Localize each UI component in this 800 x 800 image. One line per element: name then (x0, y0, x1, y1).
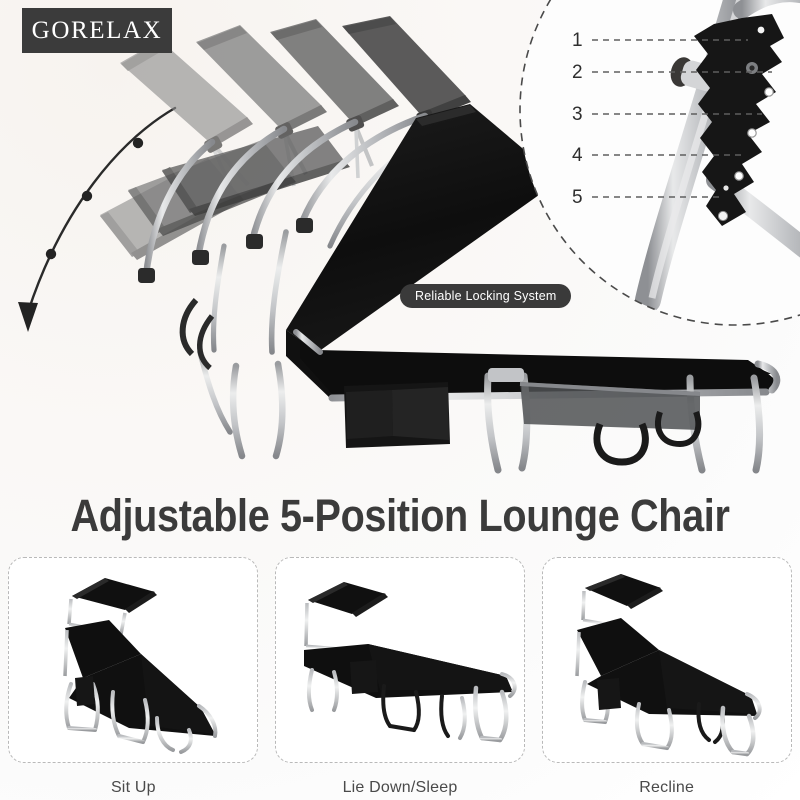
callout-number-4: 4 (572, 146, 583, 165)
side-pocket (344, 382, 450, 448)
callout-number-2: 2 (572, 63, 583, 82)
panel-caption-lie-down: Lie Down/Sleep (343, 779, 458, 797)
panel-sit-up: Sit Up (0, 552, 267, 800)
brand-logo: GORELAX (22, 8, 172, 53)
reliable-locking-system-badge: Reliable Locking System (400, 284, 571, 308)
product-marketing-image: 1 2 3 4 5 GORELAX Reliable Locking Syste… (0, 0, 800, 800)
hero-section: 1 2 3 4 5 GORELAX Reliable Locking Syste… (0, 0, 800, 487)
page-title: Adjustable 5-Position Lounge Chair (48, 492, 752, 540)
badge-label: Reliable Locking System (415, 289, 556, 303)
panel-image-recline (542, 557, 792, 763)
panel-caption-sit-up: Sit Up (111, 779, 156, 797)
panel-lie-down: Lie Down/Sleep (267, 552, 534, 800)
callout-number-1: 1 (572, 31, 583, 50)
panel-image-sit-up (8, 557, 258, 763)
callout-number-5: 5 (572, 188, 583, 207)
callout-number-3: 3 (572, 105, 583, 124)
locking-detail-callout (520, 0, 800, 330)
panel-recline: Recline (533, 552, 800, 800)
product-illustration (0, 0, 800, 487)
position-modes-gallery: Sit Up (0, 552, 800, 800)
panel-image-lie-down (275, 557, 525, 763)
panel-caption-recline: Recline (639, 779, 694, 797)
brand-logo-text: GORELAX (32, 18, 163, 43)
